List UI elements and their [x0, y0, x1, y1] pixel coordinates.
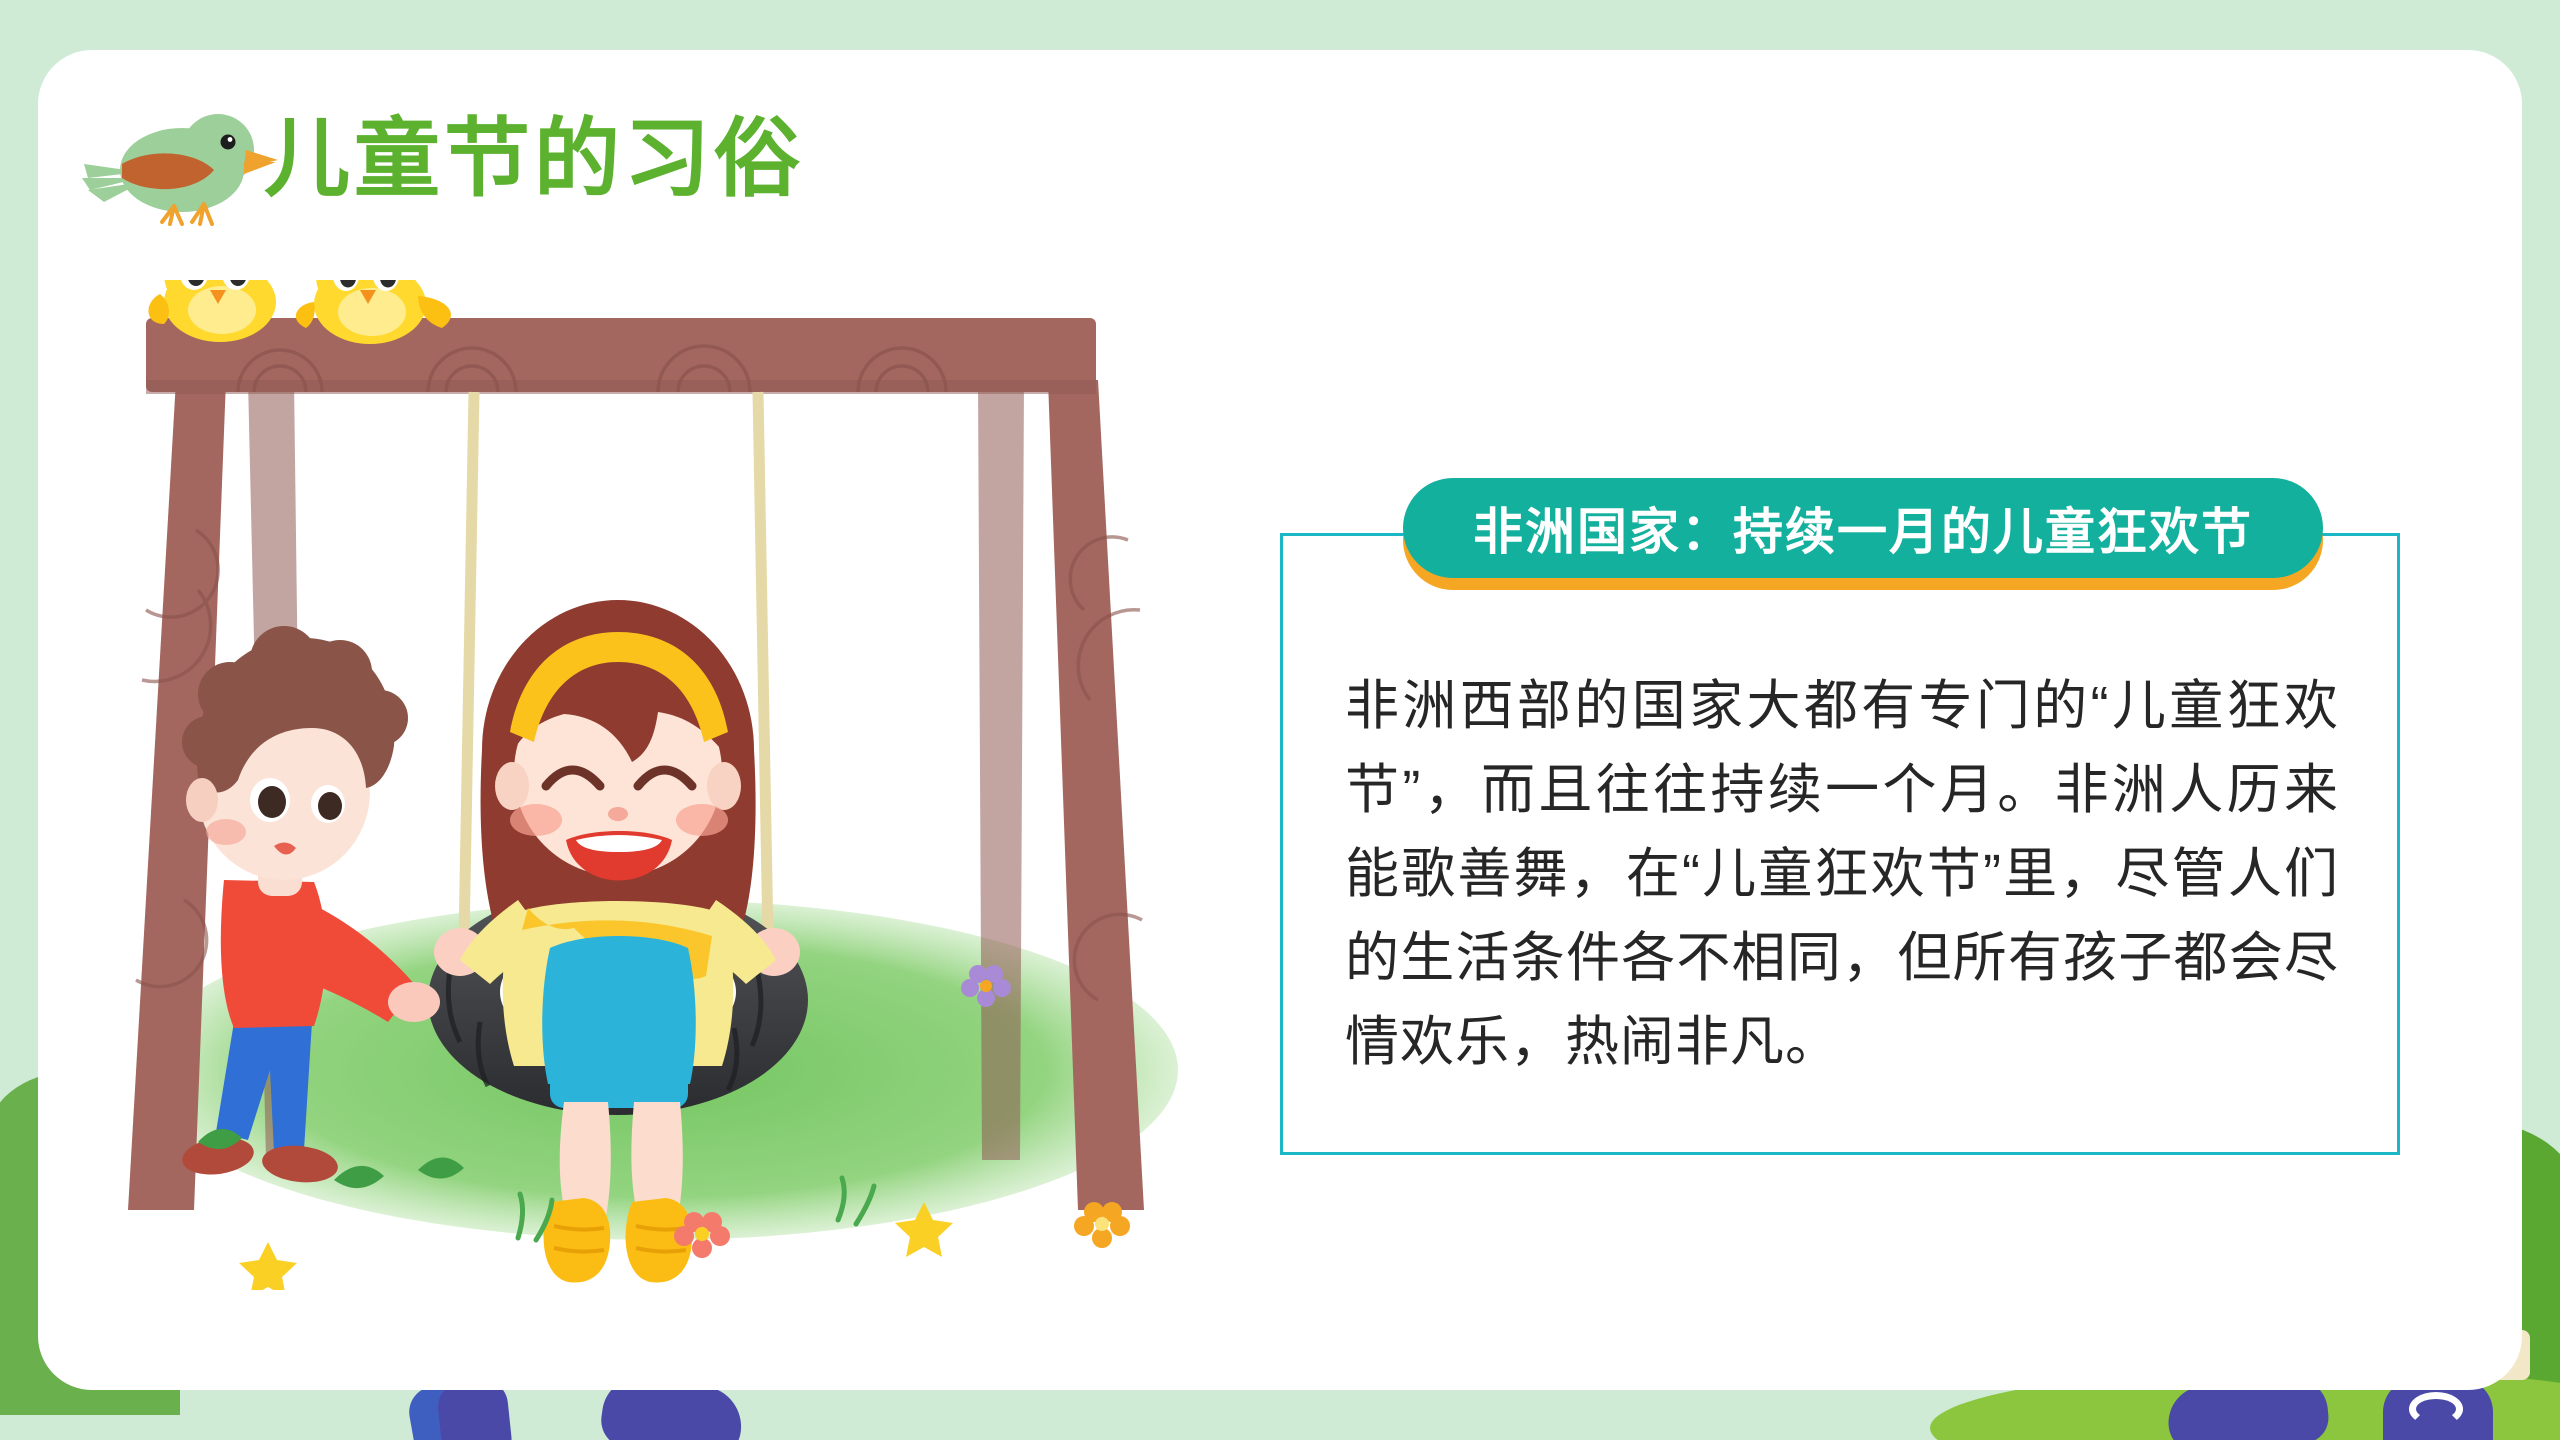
- children-on-tire-swing-illustration: [98, 280, 1278, 1290]
- section-badge: 非洲国家：持续一月的儿童狂欢节: [1403, 478, 2323, 578]
- page-title: 儿童节的习俗: [264, 116, 804, 210]
- text-content-area: 非洲国家：持续一月的儿童狂欢节 非洲西部的国家大都有专门的“儿童狂欢节”，而且往…: [1280, 465, 2400, 1155]
- shoe-lace-icon: [2409, 1392, 2463, 1426]
- badge-label: 非洲国家：持续一月的儿童狂欢节: [1473, 492, 2253, 564]
- info-box: 非洲国家：持续一月的儿童狂欢节 非洲西部的国家大都有专门的“儿童狂欢节”，而且往…: [1280, 533, 2400, 1155]
- bird-icon: [78, 98, 278, 228]
- badge-label-container: 非洲国家：持续一月的儿童狂欢节: [1403, 478, 2323, 578]
- body-paragraph: 非洲西部的国家大都有专门的“儿童狂欢节”，而且往往持续一个月。非洲人历来能歌善舞…: [1345, 664, 2339, 1084]
- slide-card: 儿童节的习俗: [38, 50, 2522, 1390]
- slide-header: 儿童节的习俗: [78, 98, 804, 228]
